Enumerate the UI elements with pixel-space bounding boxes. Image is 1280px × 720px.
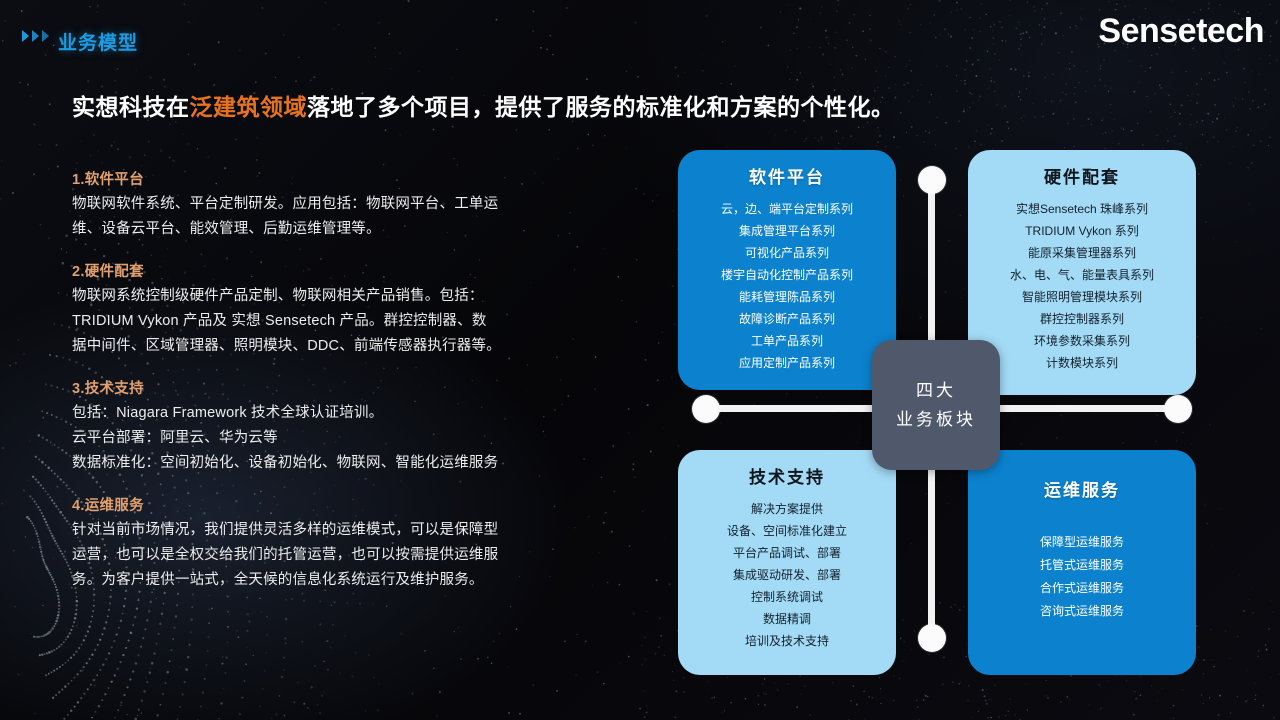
card-item: 计数模块系列 xyxy=(1046,352,1118,374)
left-description-column: 1.软件平台 物联网软件系统、平台定制研发。应用包括：物联网平台、工单运 维、设… xyxy=(72,168,572,607)
card-item: 培训及技术支持 xyxy=(745,630,829,652)
slide-header: 业务模型 Sensetech xyxy=(0,0,1280,62)
node-dot-top xyxy=(918,166,946,194)
block-line: 包括：Niagara Framework 技术全球认证培训。 xyxy=(72,401,572,426)
card-title: 运维服务 xyxy=(1044,476,1120,501)
card-item: 云，边、端平台定制系列 xyxy=(721,198,853,220)
block-line: 物联网系统控制级硬件产品定制、物联网相关产品销售。包括： xyxy=(72,284,572,309)
block-line: TRIDIUM Vykon 产品及 实想 Sensetech 产品。群控控制器、… xyxy=(72,309,572,334)
block-line: 维、设备云平台、能效管理、后勤运维管理等。 xyxy=(72,217,572,242)
card-title: 软件平台 xyxy=(749,163,825,188)
block-line: 云平台部署：阿里云、华为云等 xyxy=(72,426,572,451)
card-item: 平台产品调试、部署 xyxy=(733,542,841,564)
block-title: 1.软件平台 xyxy=(72,168,572,189)
page-title-highlight: 泛建筑领域 xyxy=(190,94,308,120)
page-title: 实想科技在泛建筑领域落地了多个项目，提供了服务的标准化和方案的个性化。 xyxy=(72,88,895,122)
card-technical-support[interactable]: 技术支持 解决方案提供 设备、空间标准化建立 平台产品调试、部署 集成驱动研发、… xyxy=(678,450,896,675)
business-model-diagram: 软件平台 云，边、端平台定制系列 集成管理平台系列 可视化产品系列 楼宇自动化控… xyxy=(660,140,1240,685)
block-line: 针对当前市场情况，我们提供灵活多样的运维模式，可以是保障型 xyxy=(72,518,572,543)
page-title-part1: 实想科技在 xyxy=(72,94,190,120)
block-line: 数据标准化：空间初始化、设备初始化、物联网、智能化运维服务 xyxy=(72,451,572,476)
block-title: 2.硬件配套 xyxy=(72,260,572,281)
description-block: 1.软件平台 物联网软件系统、平台定制研发。应用包括：物联网平台、工单运 维、设… xyxy=(72,168,572,242)
card-item: 数据精调 xyxy=(763,608,811,630)
card-item: 环境参数采集系列 xyxy=(1034,330,1130,352)
card-item: 可视化产品系列 xyxy=(745,242,829,264)
card-item: 楼宇自动化控制产品系列 xyxy=(721,264,853,286)
card-item: 群控控制器系列 xyxy=(1040,308,1124,330)
block-line: 物联网软件系统、平台定制研发。应用包括：物联网平台、工单运 xyxy=(72,192,572,217)
page-title-part2: 落地了多个项目，提供了服务的标准化和方案的个性化。 xyxy=(307,94,895,120)
card-operation-service[interactable]: 运维服务 保障型运维服务 托管式运维服务 合作式运维服务 咨询式运维服务 xyxy=(968,450,1196,675)
card-item: TRIDIUM Vykon 系列 xyxy=(1025,220,1139,242)
description-block: 4.运维服务 针对当前市场情况，我们提供灵活多样的运维模式，可以是保障型 运营，… xyxy=(72,494,572,593)
card-item: 控制系统调试 xyxy=(751,586,823,608)
card-item: 设备、空间标准化建立 xyxy=(727,520,847,542)
card-item: 咨询式运维服务 xyxy=(1040,600,1124,623)
card-title: 技术支持 xyxy=(749,463,825,488)
card-title: 硬件配套 xyxy=(1044,163,1120,188)
card-item: 水、电、气、能量表具系列 xyxy=(1010,264,1154,286)
card-item: 应用定制产品系列 xyxy=(739,352,835,374)
card-item: 故障诊断产品系列 xyxy=(739,308,835,330)
card-item: 工单产品系列 xyxy=(751,330,823,352)
block-line: 据中间件、区域管理器、照明模块、DDC、前端传感器执行器等。 xyxy=(72,334,572,359)
card-item: 保障型运维服务 xyxy=(1040,531,1124,554)
section-title: 业务模型 xyxy=(58,28,138,55)
hub-line-1: 四大 xyxy=(916,376,956,405)
card-item: 集成驱动研发、部署 xyxy=(733,564,841,586)
description-block: 3.技术支持 包括：Niagara Framework 技术全球认证培训。 云平… xyxy=(72,377,572,476)
block-title: 4.运维服务 xyxy=(72,494,572,515)
card-item: 合作式运维服务 xyxy=(1040,577,1124,600)
card-item: 能耗管理陈品系列 xyxy=(739,286,835,308)
node-dot-right xyxy=(1164,395,1192,423)
chevron-right-icon xyxy=(22,30,49,42)
hub-line-2: 业务板块 xyxy=(896,405,976,434)
card-item: 实想Sensetech 珠峰系列 xyxy=(1016,198,1148,220)
brand-logo: Sensetech xyxy=(1098,12,1264,51)
card-item: 智能照明管理模块系列 xyxy=(1022,286,1142,308)
card-item: 能原采集管理器系列 xyxy=(1028,242,1136,264)
card-item: 解决方案提供 xyxy=(751,498,823,520)
node-dot-left xyxy=(692,395,720,423)
card-hardware-package[interactable]: 硬件配套 实想Sensetech 珠峰系列 TRIDIUM Vykon 系列 能… xyxy=(968,150,1196,395)
block-line: 务。为客户提供一站式，全天候的信息化系统运行及维护服务。 xyxy=(72,568,572,593)
node-dot-bottom xyxy=(918,624,946,652)
diagram-center-hub[interactable]: 四大 业务板块 xyxy=(872,340,1000,470)
card-item: 集成管理平台系列 xyxy=(739,220,835,242)
description-block: 2.硬件配套 物联网系统控制级硬件产品定制、物联网相关产品销售。包括： TRID… xyxy=(72,260,572,359)
block-title: 3.技术支持 xyxy=(72,377,572,398)
block-line: 运营，也可以是全权交给我们的托管运营，也可以按需提供运维服 xyxy=(72,543,572,568)
card-software-platform[interactable]: 软件平台 云，边、端平台定制系列 集成管理平台系列 可视化产品系列 楼宇自动化控… xyxy=(678,150,896,390)
card-item: 托管式运维服务 xyxy=(1040,554,1124,577)
